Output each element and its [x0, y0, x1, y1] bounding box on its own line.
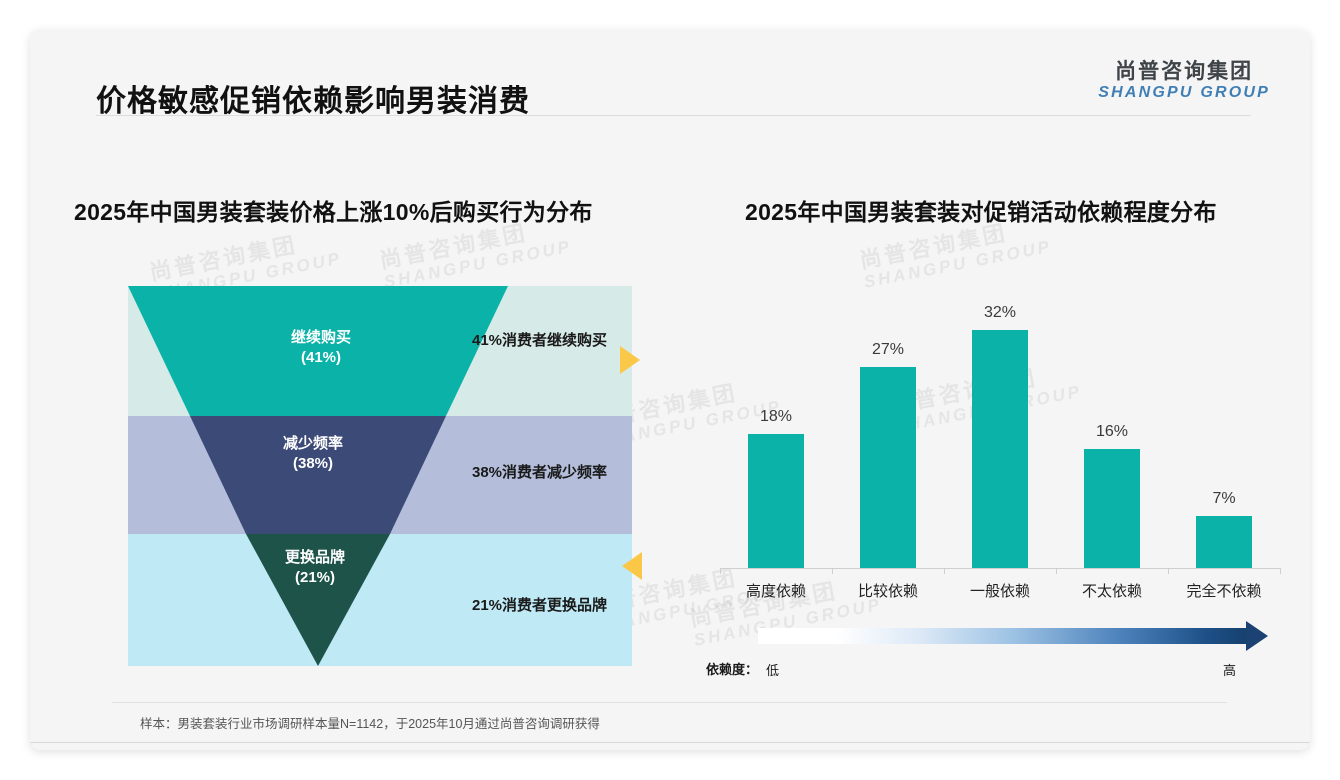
watermark-cn: 尚普咨询集团 — [147, 224, 339, 285]
gradient-arrow-icon — [1246, 621, 1268, 651]
legend-low-label: 低 — [766, 660, 779, 679]
footer-divider — [30, 742, 1310, 743]
logo-text-en: SHANGPU GROUP — [1098, 84, 1270, 102]
axis-tick — [1280, 568, 1281, 574]
dependency-gradient-bar — [758, 628, 1248, 644]
bar-category-label: 不太依赖 — [1052, 580, 1172, 601]
bar-value-label: 32% — [984, 304, 1016, 322]
axis-tick — [1168, 568, 1169, 574]
chart-title-bar: 2025年中国男装套装对促销活动依赖程度分布 — [745, 193, 1217, 227]
bar-column[interactable]: 16% — [1056, 300, 1168, 568]
bar-column[interactable]: 18% — [720, 300, 832, 568]
funnel-segment-label-0: 继续购买 (41%) — [246, 328, 396, 369]
bar-value-label: 16% — [1096, 423, 1128, 441]
watermark-en: SHANGPU GROUP — [862, 237, 1053, 293]
logo-text-cn: 尚普咨询集团 — [1098, 60, 1270, 84]
company-logo: 尚普咨询集团 SHANGPU GROUP — [1098, 60, 1270, 103]
bar-category-label: 高度依赖 — [716, 580, 836, 601]
funnel-label-value: (38%) — [293, 455, 333, 472]
funnel-description-1: 38%消费者减少频率 — [472, 461, 607, 482]
bar-chart-axis — [720, 568, 1280, 569]
bar-chart: 18%27%32%16%7% — [720, 300, 1280, 568]
funnel-label-text: 更换品牌 — [285, 549, 345, 566]
bar-column[interactable]: 7% — [1168, 300, 1280, 568]
axis-tick — [720, 568, 721, 574]
chart-title-funnel: 2025年中国男装套装价格上涨10%后购买行为分布 — [74, 193, 593, 227]
funnel-description-0: 41%消费者继续购买 — [472, 329, 607, 350]
axis-tick — [832, 568, 833, 574]
sample-note: 样本：男装套装行业市场调研样本量N=1142，于2025年10月通过尚普咨询调研… — [140, 713, 600, 732]
bar-column[interactable]: 27% — [832, 300, 944, 568]
bar[interactable] — [1084, 449, 1140, 568]
funnel-label-value: (21%) — [295, 569, 335, 586]
bar-value-label: 7% — [1212, 490, 1235, 508]
bar-value-label: 27% — [872, 341, 904, 359]
bar[interactable] — [972, 330, 1028, 568]
page-title: 价格敏感促销依赖影响男装消费 — [96, 76, 530, 120]
bar[interactable] — [1196, 516, 1252, 568]
bar-category-label: 一般依赖 — [940, 580, 1060, 601]
header: 价格敏感促销依赖影响男装消费 尚普咨询集团 SHANGPU GROUP — [30, 30, 1310, 116]
funnel-segment-label-1: 减少频率 (38%) — [238, 434, 388, 475]
header-divider — [96, 115, 1251, 116]
bar[interactable] — [860, 367, 916, 568]
funnel-label-text: 继续购买 — [291, 329, 351, 346]
watermark-en: SHANGPU GROUP — [382, 237, 573, 293]
bar-value-label: 18% — [760, 408, 792, 426]
bar[interactable] — [748, 434, 804, 568]
funnel-segment-label-2: 更换品牌 (21%) — [240, 548, 390, 589]
funnel-label-text: 减少频率 — [283, 435, 343, 452]
bar-category-label: 完全不依赖 — [1164, 580, 1284, 601]
bar-category-label: 比较依赖 — [828, 580, 948, 601]
bar-column[interactable]: 32% — [944, 300, 1056, 568]
legend-high-label: 高 — [1223, 660, 1236, 679]
note-divider — [112, 702, 1227, 703]
slide-card: 尚普咨询集团 SHANGPU GROUP 尚普咨询集团 SHANGPU GROU… — [30, 30, 1310, 750]
axis-tick — [1056, 568, 1057, 574]
funnel-description-2: 21%消费者更换品牌 — [472, 594, 607, 615]
triangle-right-icon — [620, 346, 640, 374]
triangle-left-icon — [622, 552, 642, 580]
legend-caption: 依赖度： — [706, 659, 758, 678]
axis-tick — [944, 568, 945, 574]
funnel-label-value: (41%) — [301, 349, 341, 366]
funnel-chart: 继续购买 (41%) 减少频率 (38%) 更换品牌 (21%) 41%消费者继… — [128, 286, 632, 666]
